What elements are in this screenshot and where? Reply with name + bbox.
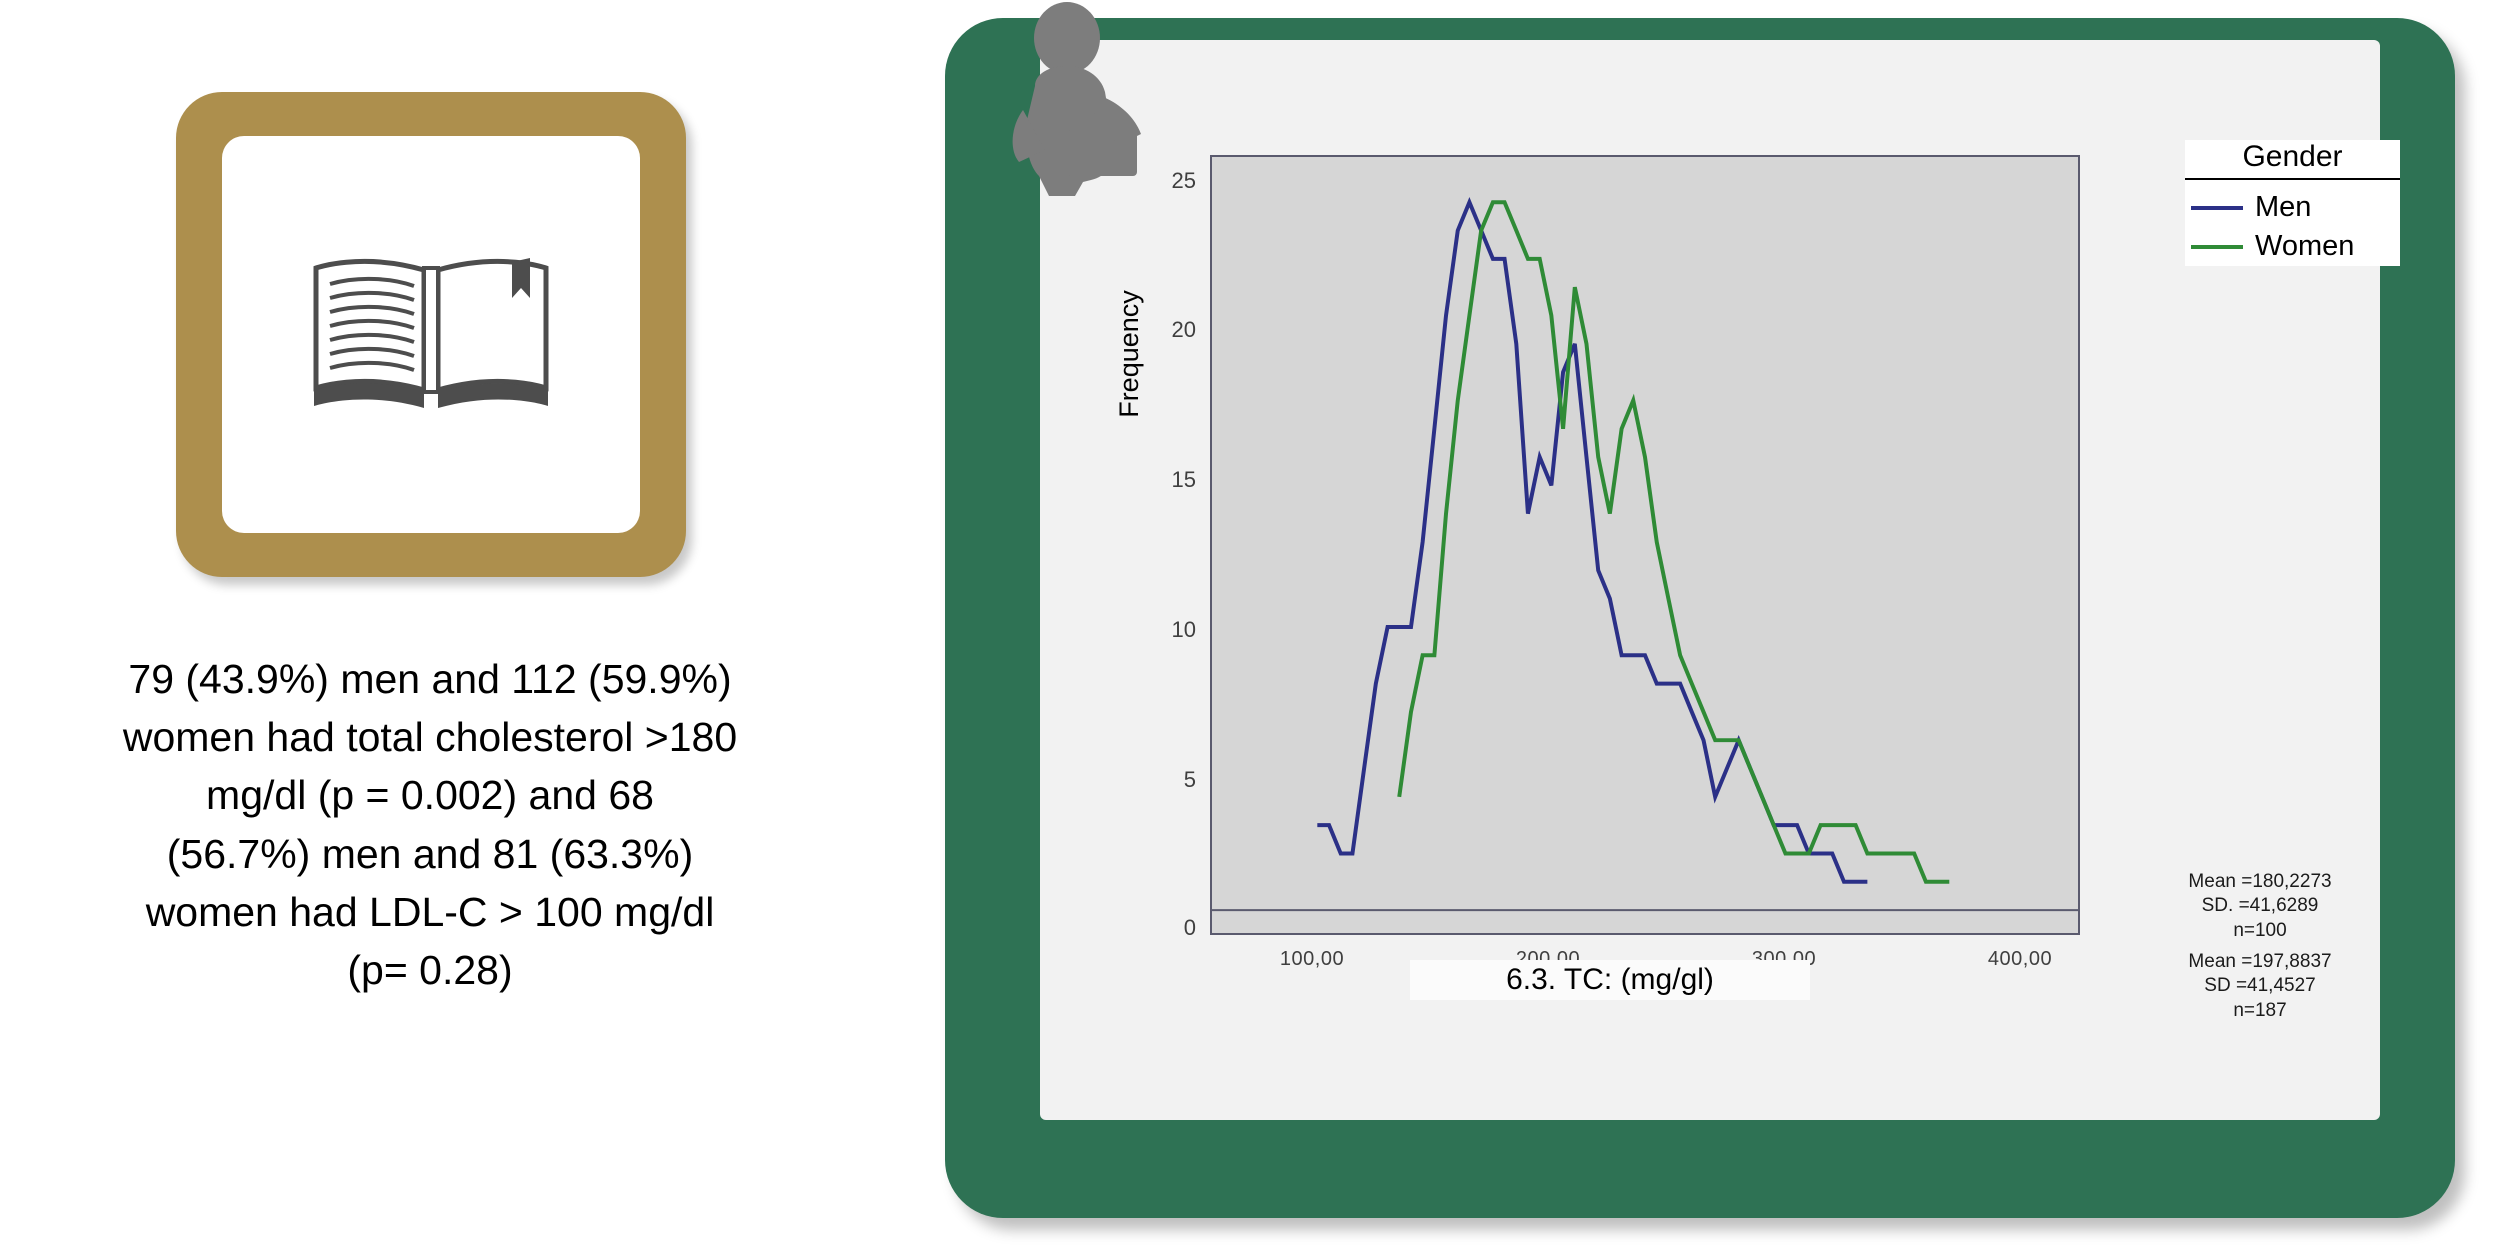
x-tick-0: 100,00 [1252, 948, 1372, 971]
person-reading-clipboard-icon [1005, 0, 1195, 290]
legend-item-men[interactable]: Men [2185, 188, 2400, 227]
spss-histogram-chart: Frequency 0 5 10 15 20 25 100,00 200,00 … [1120, 130, 2180, 1010]
y-tick-4: 20 [1146, 317, 1196, 343]
y-tick-0: 0 [1146, 915, 1196, 941]
chart-legend: Gender Men Women [2185, 140, 2400, 266]
plot-area [1210, 155, 2080, 935]
book-icon-card-inner [222, 136, 640, 533]
legend-title: Gender [2185, 140, 2400, 180]
series-line-women [1399, 202, 1949, 881]
open-book-icon [306, 240, 556, 430]
y-tick-3: 15 [1146, 467, 1196, 493]
plot-lines [1212, 157, 2078, 933]
annotation-stats-women: Mean =197,8837 SD =41,4527 n=187 [2160, 950, 2360, 1023]
caption-text: 79 (43.9%) men and 112 (59.9%) women had… [0, 650, 860, 999]
y-tick-2: 10 [1146, 617, 1196, 643]
y-tick-1: 5 [1146, 767, 1196, 793]
book-icon-card [176, 92, 686, 577]
legend-label-women: Women [2255, 230, 2354, 263]
legend-swatch-women [2191, 245, 2243, 249]
x-tick-3: 400,00 [1960, 948, 2080, 971]
left-content-panel: 79 (43.9%) men and 112 (59.9%) women had… [0, 0, 880, 1252]
legend-item-women[interactable]: Women [2185, 227, 2400, 266]
legend-label-men: Men [2255, 191, 2311, 224]
legend-swatch-men [2191, 206, 2243, 210]
annotation-stats-men: Mean =180,2273 SD. =41,6289 n=100 [2160, 870, 2360, 943]
x-axis-label: 6.3. TC: (mg/gl) [1410, 960, 1810, 1000]
